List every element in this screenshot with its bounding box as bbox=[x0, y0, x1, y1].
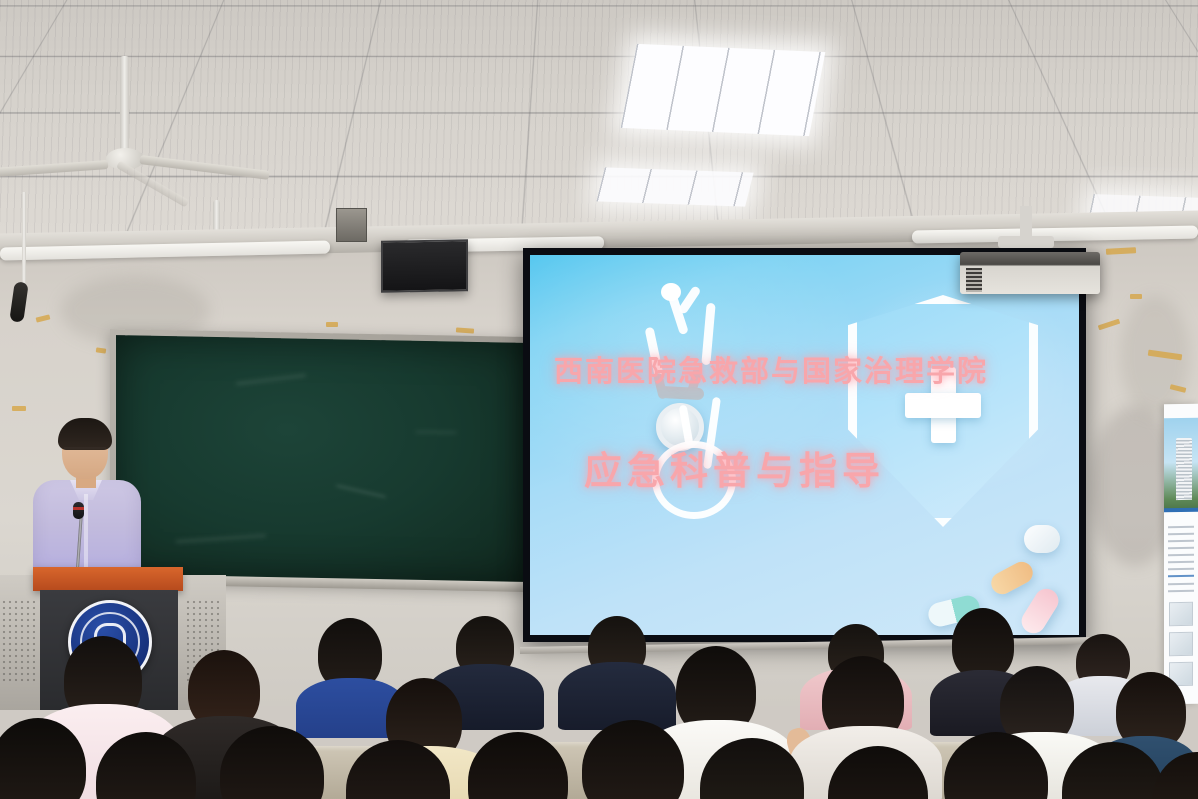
poster-accent-band bbox=[1164, 508, 1198, 513]
glasses-icon bbox=[64, 447, 106, 458]
projector-mount-pole bbox=[1020, 206, 1032, 238]
projected-slide: 西南医院急救部与国家治理学院 应急科普与指导 bbox=[530, 255, 1079, 635]
capsule-pill-icon bbox=[987, 558, 1036, 598]
presenter-hair bbox=[58, 418, 112, 450]
ceiling-light-panel bbox=[621, 44, 826, 136]
microphone-indicator bbox=[73, 507, 84, 510]
microphone-icon bbox=[73, 502, 84, 519]
poster-building-photo bbox=[1164, 418, 1198, 511]
chalkboard-surface bbox=[116, 335, 524, 583]
projector-mount-bracket bbox=[998, 236, 1054, 248]
projector-vent bbox=[966, 268, 982, 292]
acoustic-tile-ceiling bbox=[0, 0, 1198, 250]
podium-top bbox=[33, 567, 183, 591]
lecture-hall-photo: 西南医院急救部与国家治理学院 应急科普与指导 bbox=[0, 0, 1198, 799]
wall-junction-box bbox=[336, 208, 367, 242]
tablet-pill-icon bbox=[1024, 525, 1060, 553]
ceiling-tile-texture bbox=[0, 0, 1198, 250]
seated-audience bbox=[0, 600, 1198, 799]
projection-screen-frame: 西南医院急救部与国家治理学院 应急科普与指导 bbox=[523, 248, 1086, 642]
slide-title: 西南医院急救部与国家治理学院 bbox=[554, 348, 988, 390]
slide-subtitle: 应急科普与指导 bbox=[584, 440, 885, 495]
wall-speaker bbox=[381, 239, 468, 293]
green-chalkboard bbox=[110, 329, 530, 589]
hanging-microphone-wire bbox=[22, 192, 26, 286]
ceiling-light-panel bbox=[596, 167, 753, 206]
